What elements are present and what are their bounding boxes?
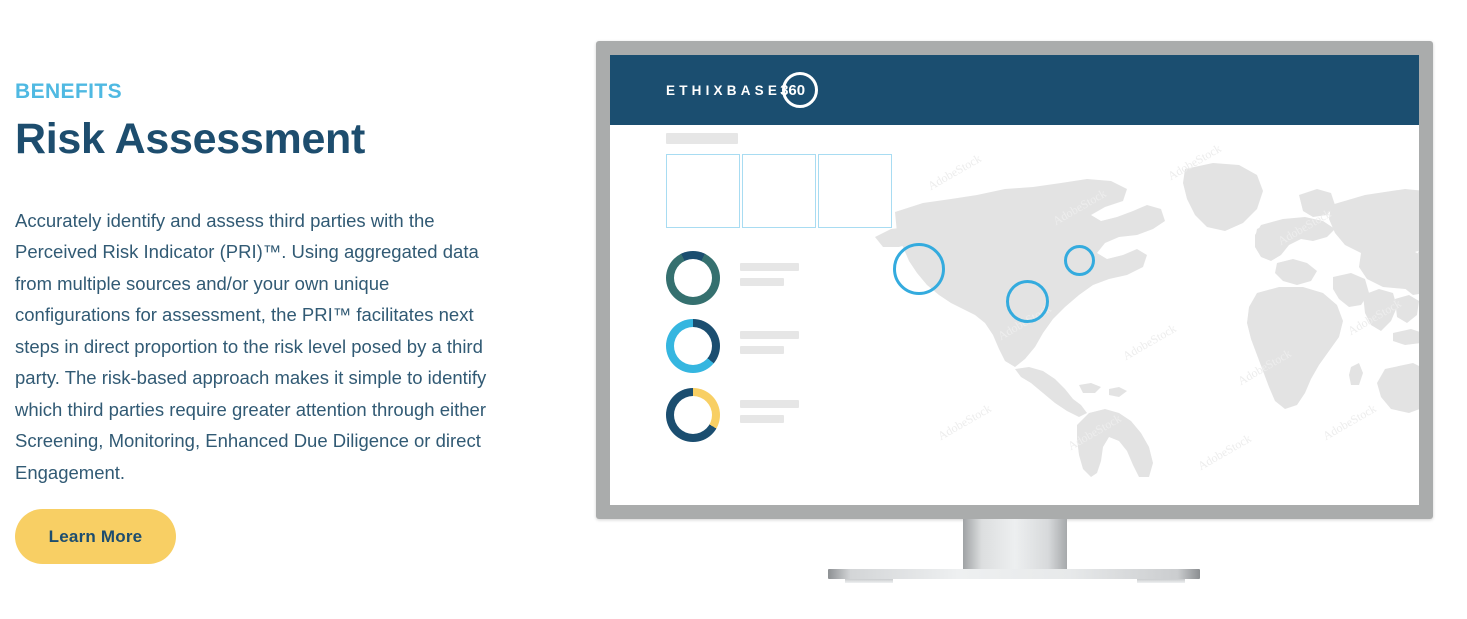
world-map — [865, 125, 1419, 477]
learn-more-button[interactable]: Learn More — [15, 509, 176, 564]
monitor-stand-foot-left — [845, 579, 893, 583]
benefits-text-column: BENEFITS Risk Assessment Accurately iden… — [15, 0, 515, 619]
kpi-card-1[interactable] — [666, 154, 740, 228]
donut-hole — [674, 327, 712, 365]
risk-row-high[interactable] — [666, 388, 866, 442]
donut-hole — [674, 396, 712, 434]
kpi-card-2[interactable] — [742, 154, 816, 228]
monitor-mockup: ETHIXBASE 360 — [596, 41, 1433, 519]
risk-row-low-labels — [740, 263, 799, 293]
logo-wordmark: ETHIXBASE — [666, 83, 781, 98]
label-placeholder-primary — [740, 263, 799, 271]
label-placeholder-secondary — [740, 415, 784, 423]
risk-donut-low — [666, 251, 720, 305]
monitor-stand-neck — [963, 519, 1067, 570]
risk-row-high-labels — [740, 400, 799, 430]
risk-row-medium-labels — [740, 331, 799, 361]
logo-360-text: 360 — [780, 82, 805, 99]
label-placeholder-primary — [740, 331, 799, 339]
label-placeholder-secondary — [740, 346, 784, 354]
donut-hole — [674, 259, 712, 297]
dashboard-body: AdobeStockAdobeStockAdobeStockAdobeStock… — [610, 125, 1419, 505]
monitor-stand-foot-right — [1137, 579, 1185, 583]
map-marker-europe[interactable] — [893, 243, 945, 295]
label-placeholder-primary — [740, 400, 799, 408]
risk-donut-medium — [666, 319, 720, 373]
label-placeholder-secondary — [740, 278, 784, 286]
risk-donut-high — [666, 388, 720, 442]
monitor-screen: ETHIXBASE 360 — [610, 55, 1419, 505]
monitor-stand-base — [828, 569, 1200, 579]
app-header-bar: ETHIXBASE 360 — [610, 55, 1419, 125]
body-paragraph: Accurately identify and assess third par… — [15, 205, 493, 489]
kpi-card-3[interactable] — [818, 154, 892, 228]
page-title: Risk Assessment — [15, 115, 365, 164]
map-marker-east-asia[interactable] — [1064, 245, 1095, 276]
map-marker-south-asia[interactable] — [1006, 280, 1049, 323]
section-title-placeholder — [666, 133, 738, 144]
ethixbase360-logo: ETHIXBASE 360 — [666, 74, 805, 106]
risk-row-medium[interactable] — [666, 319, 866, 373]
section-eyebrow-label: BENEFITS — [15, 80, 122, 104]
risk-row-low[interactable] — [666, 251, 866, 305]
